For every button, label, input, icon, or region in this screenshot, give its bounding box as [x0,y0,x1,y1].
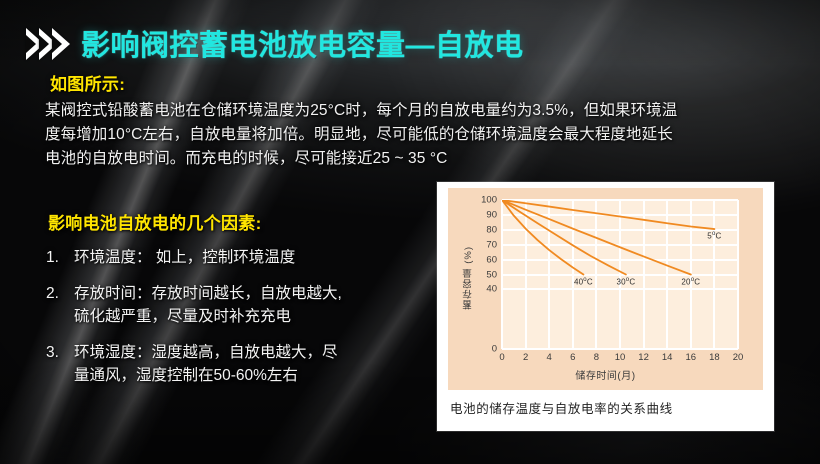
list-item-number: 3. [46,341,74,387]
list-item-line: 量通风，湿度控制在50-60%左右 [74,364,446,387]
list-item-line: 硫化越严重，尽量及时补充充电 [74,305,446,328]
chart-y-tick-label: 90 [486,209,497,220]
chart-x-tick-label: 14 [662,352,673,363]
chart-series-line [502,200,626,275]
chart-y-tick-label: 50 [486,269,497,280]
chart-x-tick-label: 16 [686,352,697,363]
factors-list: 1. 环境温度： 如上，控制环境温度 2. 存放时间：存放时间越长，自放电越大,… [46,246,446,400]
chart-panel: 蓄存容量 (%) 0246810121416182004050607080901… [448,188,763,390]
list-item-text: 环境湿度：湿度越高，自放电越大，尽 量通风，湿度控制在50-60%左右 [74,341,446,387]
chart-y-tick-label: 40 [486,284,497,295]
chart-y-axis-label: 蓄存容量 (%) [462,246,476,309]
chart-card: 蓄存容量 (%) 0246810121416182004050607080901… [437,182,774,431]
paragraph-line-1: 某阀控式铅酸蓄电池在仓储环境温度为25°C时，每个月的自放电量约为3.5%，但如… [45,99,800,123]
chart-x-tick-label: 10 [615,352,626,363]
chart-x-tick-label: 18 [709,352,720,363]
chart-curves [502,200,738,349]
chart-y-tick-label: 60 [486,254,497,265]
chart-y-tick-label: 70 [486,239,497,250]
list-item: 2. 存放时间：存放时间越长，自放电越大, 硫化越严重，尽量及时补充充电 [46,282,446,328]
chart-series-label: 20oC [681,277,700,287]
list-item-line: 环境湿度：湿度越高，自放电越大，尽 [74,341,446,364]
section-heading-factors: 影响电池自放电的几个因素: [48,209,262,234]
chart-x-tick-label: 8 [594,352,599,363]
list-item-number: 1. [46,246,74,269]
list-item-line: 存放时间：存放时间越长，自放电越大, [74,282,446,305]
slide-title-row: 影响阀控蓄电池放电容量—自放电 [26,22,524,64]
chart-series-line [502,200,583,275]
list-item-number: 2. [46,282,74,328]
chart-x-tick-label: 20 [733,352,744,363]
chevron-right-icon [26,28,65,60]
chart-x-tick-label: 2 [523,352,528,363]
list-item: 3. 环境湿度：湿度越高，自放电越大，尽 量通风，湿度控制在50-60%左右 [46,341,446,387]
chart-y-tick-label: 0 [492,344,497,355]
chart-y-tick-label: 80 [486,224,497,235]
chart-series-label: 30oC [616,277,635,287]
list-item-text: 环境温度： 如上，控制环境温度 [74,246,446,269]
slide-canvas: 影响阀控蓄电池放电容量—自放电 如图所示: 某阀控式铅酸蓄电池在仓储环境温度为2… [0,0,820,464]
chart-series-line [502,200,714,229]
chart-x-tick-label: 6 [570,352,575,363]
body-paragraph: 某阀控式铅酸蓄电池在仓储环境温度为25°C时，每个月的自放电量约为3.5%，但如… [45,99,800,171]
chart-x-tick-label: 0 [499,352,504,363]
chart-x-tick-label: 4 [547,352,552,363]
chart-caption: 电池的储存温度与自放电率的关系曲线 [450,398,673,417]
chart-series-label: 40oC [574,277,593,287]
chart-plot-area: 0246810121416182004050607080901005oC20oC… [502,200,738,349]
chart-x-axis-label: 储存时间(月) [448,367,763,382]
page-title: 影响阀控蓄电池放电容量—自放电 [81,22,524,64]
section-heading-illustration: 如图所示: [50,70,125,95]
list-item-line: 环境温度： 如上，控制环境温度 [74,246,446,269]
paragraph-line-2: 度每增加10°C左右，自放电量将加倍。明显地，尽可能低的仓储环境温度会最大程度地… [45,123,800,147]
list-item: 1. 环境温度： 如上，控制环境温度 [46,246,446,269]
list-item-text: 存放时间：存放时间越长，自放电越大, 硫化越严重，尽量及时补充充电 [74,282,446,328]
chart-x-tick-label: 12 [638,352,649,363]
chart-series-label: 5oC [707,231,721,241]
chart-y-tick-label: 100 [481,195,497,206]
chart-series-line [502,200,691,275]
paragraph-line-3: 电池的自放电时间。而充电的时候，尽可能接近25 ~ 35 °C [45,147,800,171]
